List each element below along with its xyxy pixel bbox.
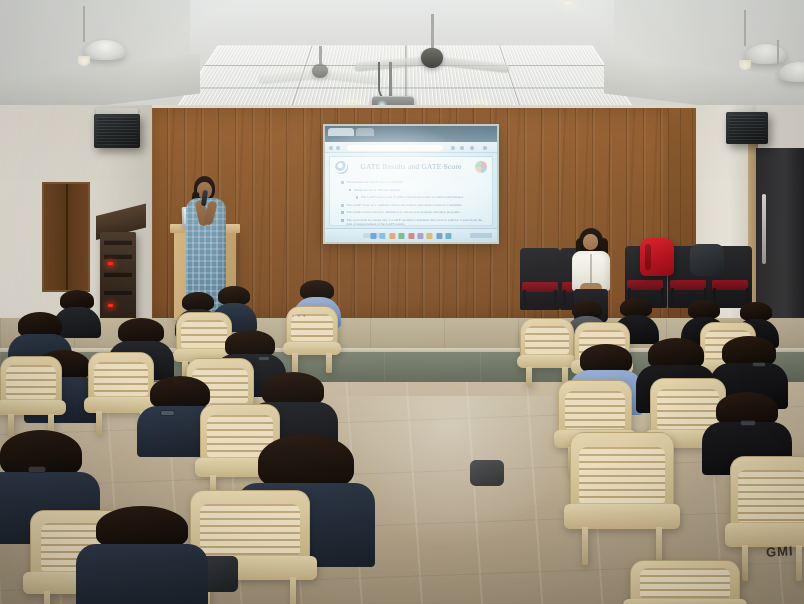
slide-bullet: The GATE Score of a candidate reflects t…	[341, 203, 485, 207]
projected-image: GATE Results and GATE Score Total marks …	[325, 126, 497, 242]
eyeglasses-icon	[752, 362, 766, 367]
slide-title: GATE Results and GATE Score	[330, 162, 492, 171]
windows-taskbar[interactable]	[325, 228, 497, 242]
bullet-text: The GATE Score of a candidate reflects t…	[347, 203, 463, 207]
slide-bullet: Marks are out of 100 max marked	[349, 188, 485, 192]
audience-chair	[570, 432, 674, 560]
bullet-marker-icon	[349, 189, 351, 191]
app-icon[interactable]	[389, 233, 395, 239]
bullet-text: Marks are out of 100 max marked	[354, 188, 400, 192]
explorer-icon[interactable]	[380, 233, 386, 239]
audience-chair	[0, 356, 62, 434]
bullet-marker-icon	[356, 196, 358, 198]
dark-bag	[690, 244, 724, 276]
window-title-bar	[325, 126, 497, 142]
guest-face	[583, 234, 598, 250]
wall-speaker-icon	[726, 112, 768, 144]
audience-member	[60, 290, 94, 336]
bullet-text: The GATE score is out of 1000 scaled mar…	[361, 195, 463, 199]
audience-chair	[520, 318, 574, 384]
seminar-hall-photo: GATE Results and GATE Score Total marks …	[0, 0, 804, 604]
presentation-slide: GATE Results and GATE Score Total marks …	[329, 156, 493, 226]
app-icon[interactable]	[446, 233, 452, 239]
eyeglasses-icon	[160, 410, 175, 416]
chair-venue-tag: GMI	[766, 543, 794, 559]
slide-bullet-list: Total marks and GATE score are different…	[341, 180, 485, 226]
chair-marking: ॥ ॥ ॥	[292, 313, 306, 319]
audience-chair	[630, 560, 740, 604]
address-bar[interactable]	[347, 145, 443, 151]
taskbar-icons[interactable]	[370, 233, 451, 239]
av-equipment-rack	[100, 232, 136, 324]
app-icon[interactable]	[436, 233, 442, 239]
stage-chair	[520, 248, 560, 310]
audience-member	[96, 506, 188, 604]
wall-speaker-icon	[94, 114, 140, 148]
slide-bullet: Total marks and GATE score are different	[341, 180, 485, 184]
eyeglasses-icon	[258, 356, 270, 361]
floor-bag	[470, 460, 504, 486]
bullet-text: The scorecards are issued only to GATE q…	[347, 218, 486, 227]
app-icon[interactable]	[408, 233, 414, 239]
browser-tab[interactable]	[356, 128, 374, 136]
red-backpack	[640, 238, 674, 276]
app-icon[interactable]	[417, 233, 423, 239]
slide-bullet: The scorecards are issued only to GATE q…	[341, 218, 485, 227]
bullet-marker-icon	[341, 181, 344, 184]
browser-tabs[interactable]	[328, 128, 374, 136]
bullet-marker-icon	[341, 211, 344, 214]
projection-screen: GATE Results and GATE Score Total marks …	[323, 124, 499, 244]
slide-bullet: The GATE score is out of 1000 scaled mar…	[356, 195, 485, 199]
app-icon[interactable]	[399, 233, 405, 239]
recessed-light-icon	[560, 0, 576, 7]
start-icon[interactable]	[370, 233, 376, 239]
slide-bullet: The GATE score is used for admission to …	[341, 210, 485, 214]
browser-toolbar	[325, 142, 497, 153]
door-handle[interactable]	[762, 194, 766, 264]
eyeglasses-icon	[28, 466, 46, 473]
side-door[interactable]	[42, 182, 90, 292]
bullet-text: The GATE score is used for admission to …	[347, 210, 461, 214]
app-icon[interactable]	[427, 233, 433, 239]
eyeglasses-icon	[740, 420, 756, 426]
bullet-marker-icon	[341, 219, 344, 222]
taskbar-clock[interactable]	[470, 233, 492, 238]
browser-tab[interactable]	[328, 128, 354, 136]
bullet-text: Total marks and GATE score are different	[347, 180, 404, 184]
bullet-marker-icon	[341, 204, 344, 207]
